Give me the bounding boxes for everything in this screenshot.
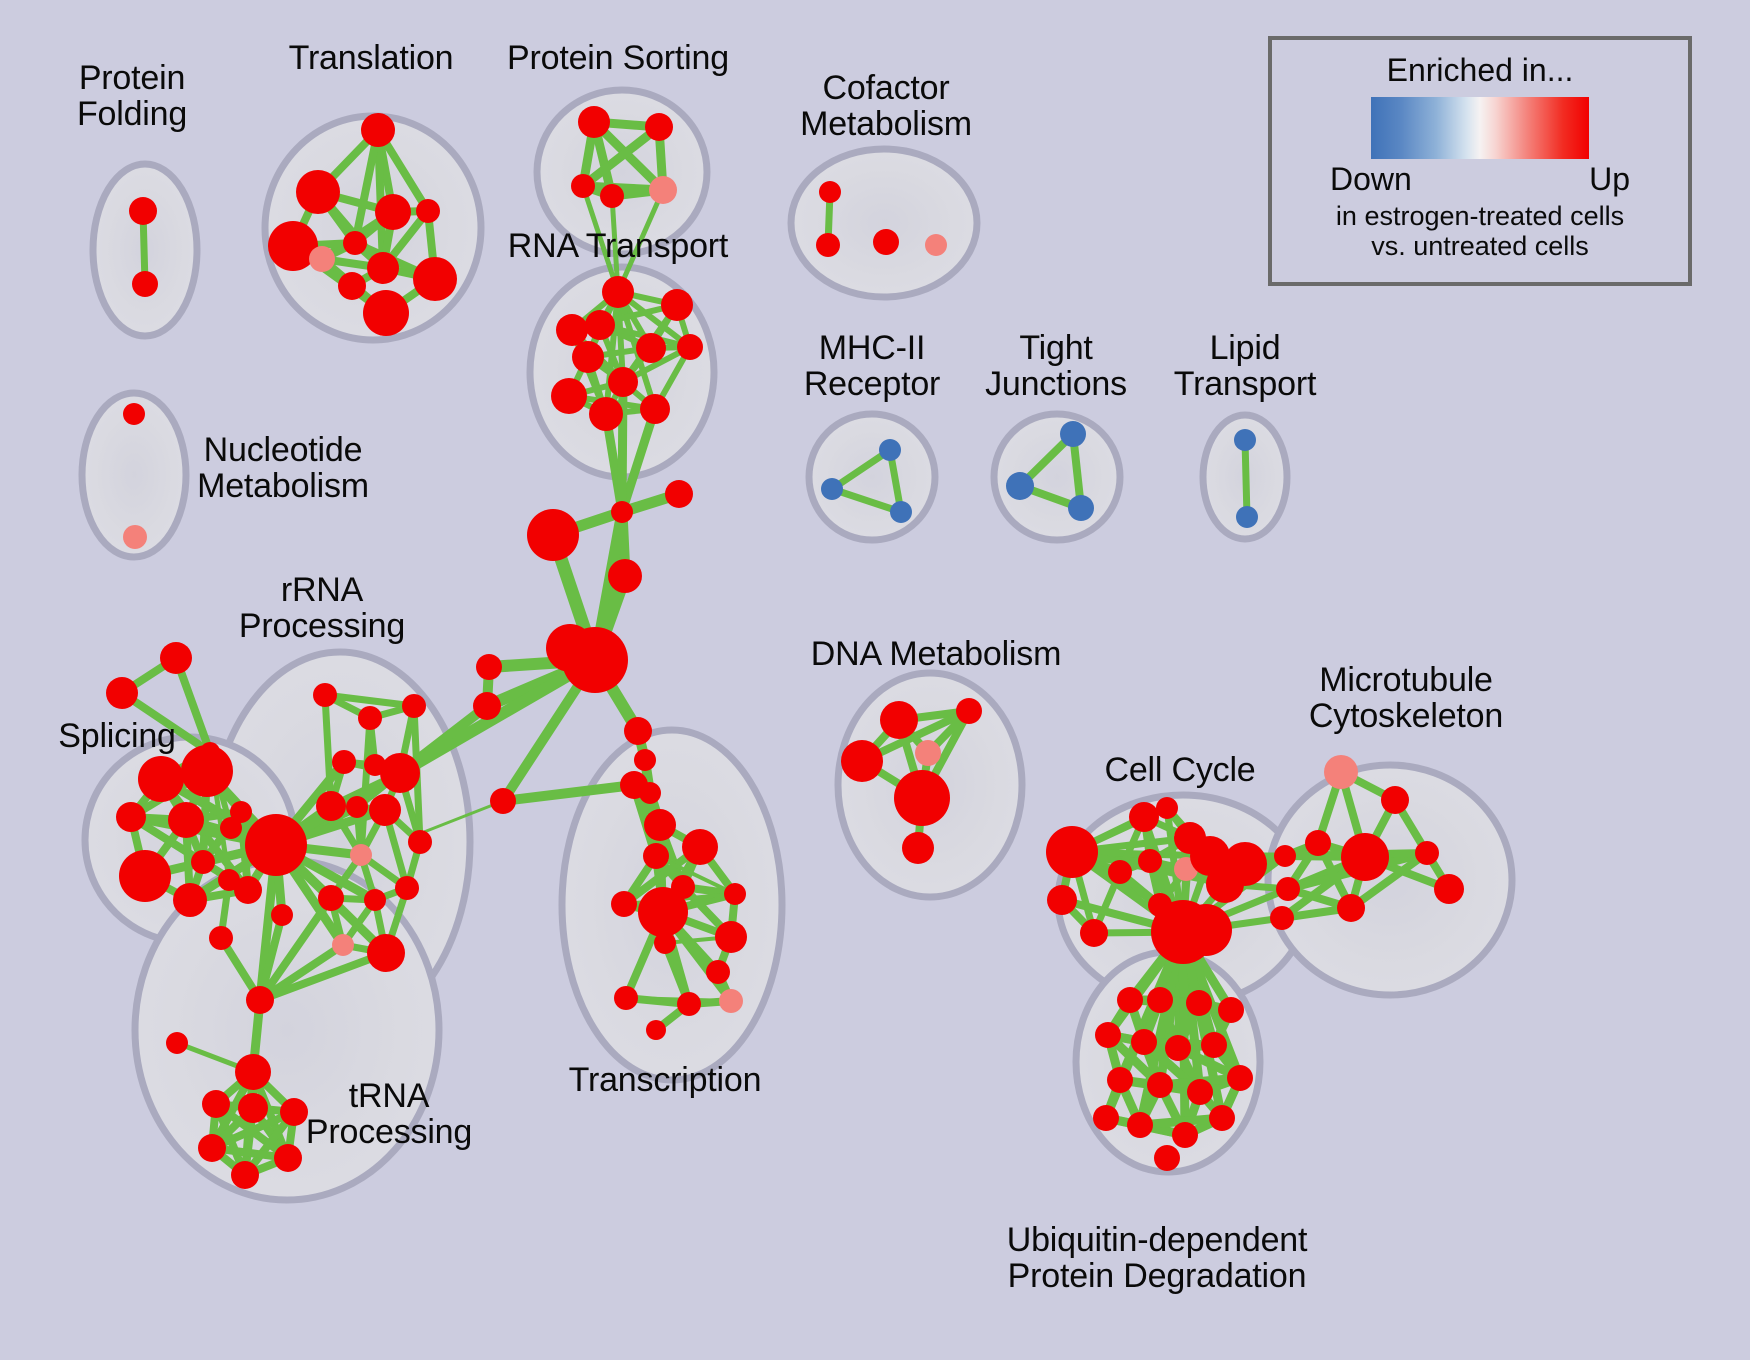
legend-low-label: Down (1330, 161, 1412, 198)
bubble-mhc-ii-receptor (809, 414, 935, 540)
legend-color-gradient-bar (1371, 97, 1589, 159)
legend-title: Enriched in... (1387, 52, 1574, 89)
bubble-cofactor-metabolism (791, 149, 977, 297)
legend-subtitle-line2: vs. untreated cells (1371, 231, 1589, 261)
legend-high-label: Up (1589, 161, 1630, 198)
legend-subtitle-line1: in estrogen-treated cells (1336, 201, 1624, 231)
enrichment-map-figure: Protein Folding Translation Protein Sort… (0, 0, 1750, 1360)
legend-endpoint-labels: Down Up (1330, 161, 1630, 198)
legend-box: Enriched in... Down Up in estrogen-treat… (1268, 36, 1692, 286)
bubble-protein-sorting (537, 90, 707, 254)
